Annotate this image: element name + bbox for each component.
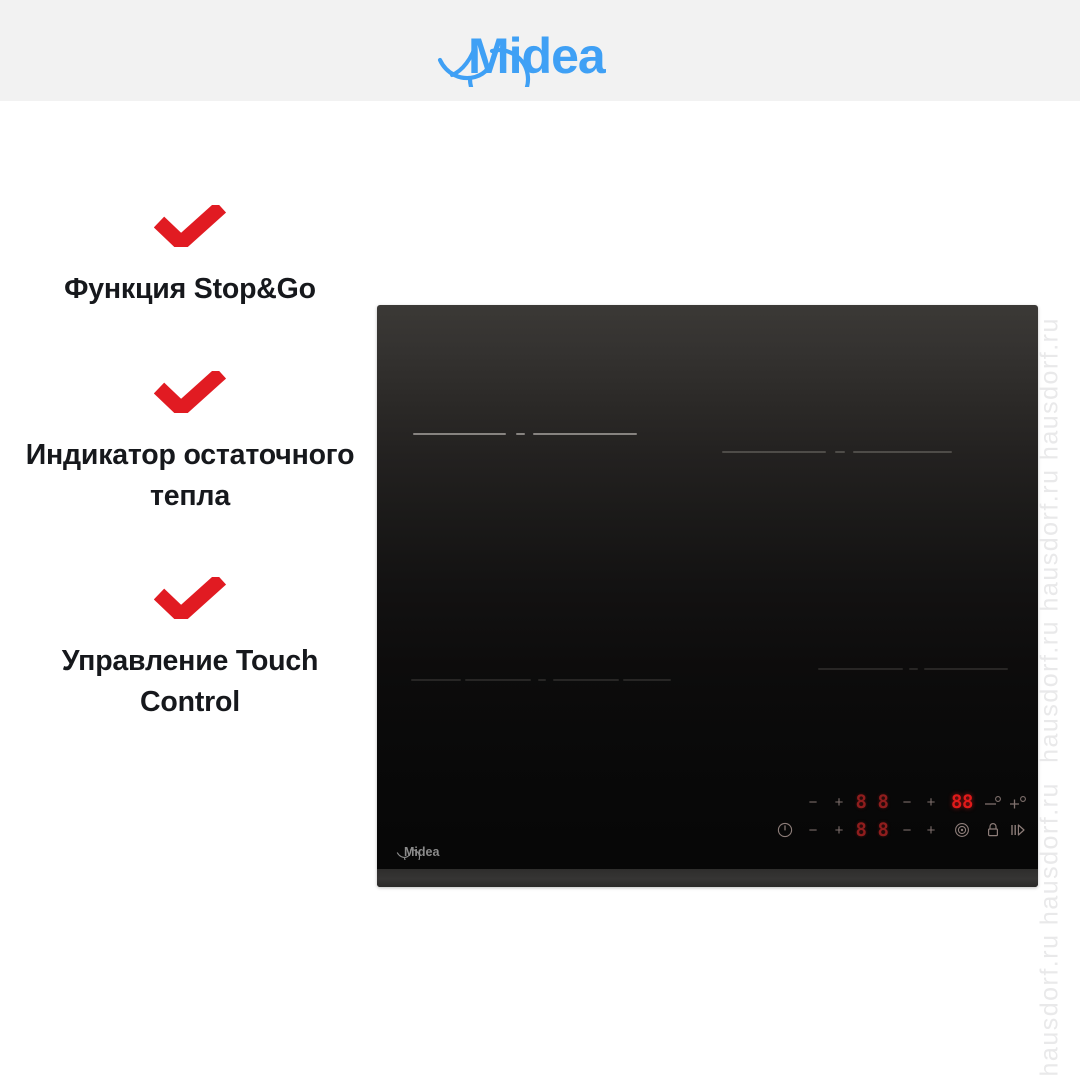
zone3-minus-button[interactable]: − — [800, 817, 826, 843]
cooking-zone-marker-bottom-left — [411, 679, 671, 681]
zone3-plus-button[interactable]: + — [826, 817, 852, 843]
svg-text:Midea: Midea — [404, 845, 440, 859]
lock-icon[interactable] — [980, 817, 1006, 843]
power-icon[interactable] — [770, 817, 800, 843]
header-band: Midea — [0, 0, 1080, 101]
pause-play-icon[interactable] — [1006, 817, 1030, 843]
cooktop-brand-mark: Midea — [393, 840, 455, 860]
cooking-zone-marker-top-left — [413, 433, 637, 435]
watermark-text: hausdorf.ru hausdorf.ru hausdorf.ru — [1036, 317, 1065, 763]
check-icon — [154, 205, 226, 247]
induction-cooktop: Midea − + 8 8 − + — [377, 305, 1038, 887]
watermark-text: hausdorf.ru hausdorf.ru hausdorf.ru — [1036, 782, 1065, 1080]
check-icon — [154, 577, 226, 619]
check-icon — [154, 371, 226, 413]
zone2-plus-button[interactable]: + — [918, 789, 944, 815]
cooktop-bottom-trim — [377, 869, 1038, 887]
feature-label: Индикатор остаточного тепла — [20, 435, 360, 516]
midea-logo-small: Midea — [393, 840, 455, 860]
spacer-top — [770, 789, 800, 815]
cooking-zone-marker-top-right — [722, 451, 952, 453]
feature-list: Функция Stop&Go Индикатор остаточного те… — [20, 205, 360, 722]
timer-display: 88 — [944, 789, 980, 815]
touch-control-panel[interactable]: − + 8 8 − + 88 — [770, 789, 1020, 843]
feature-label: Функция Stop&Go — [20, 269, 360, 309]
cooking-zone-marker-bottom-right — [818, 668, 1008, 670]
midea-brand-logo: Midea — [420, 15, 660, 87]
zone1-display-digit: 8 — [852, 789, 870, 815]
zone4-plus-button[interactable]: + — [918, 817, 944, 843]
svg-text:Midea: Midea — [468, 28, 607, 84]
feature-item-residual-heat: Индикатор остаточного тепла — [20, 371, 360, 516]
zone2-minus-button[interactable]: − — [896, 789, 918, 815]
zone4-minus-button[interactable]: − — [896, 817, 918, 843]
feature-label: Управление Touch Control — [20, 641, 360, 722]
zone4-display-digit: 8 — [870, 817, 896, 843]
control-row-bottom: − + 8 8 − + — [770, 817, 1030, 843]
feature-item-stop-and-go: Функция Stop&Go — [20, 205, 360, 309]
zone1-plus-button[interactable]: + — [826, 789, 852, 815]
zone3-display-digit: 8 — [852, 817, 870, 843]
control-row-top: − + 8 8 − + 88 — [770, 789, 1030, 815]
timer-minus-icon[interactable] — [980, 789, 1006, 815]
zone2-display-digit: 8 — [870, 789, 896, 815]
boost-target-icon[interactable] — [944, 817, 980, 843]
zone1-minus-button[interactable]: − — [800, 789, 826, 815]
feature-item-touch-control: Управление Touch Control — [20, 577, 360, 722]
timer-plus-icon[interactable] — [1006, 789, 1030, 815]
